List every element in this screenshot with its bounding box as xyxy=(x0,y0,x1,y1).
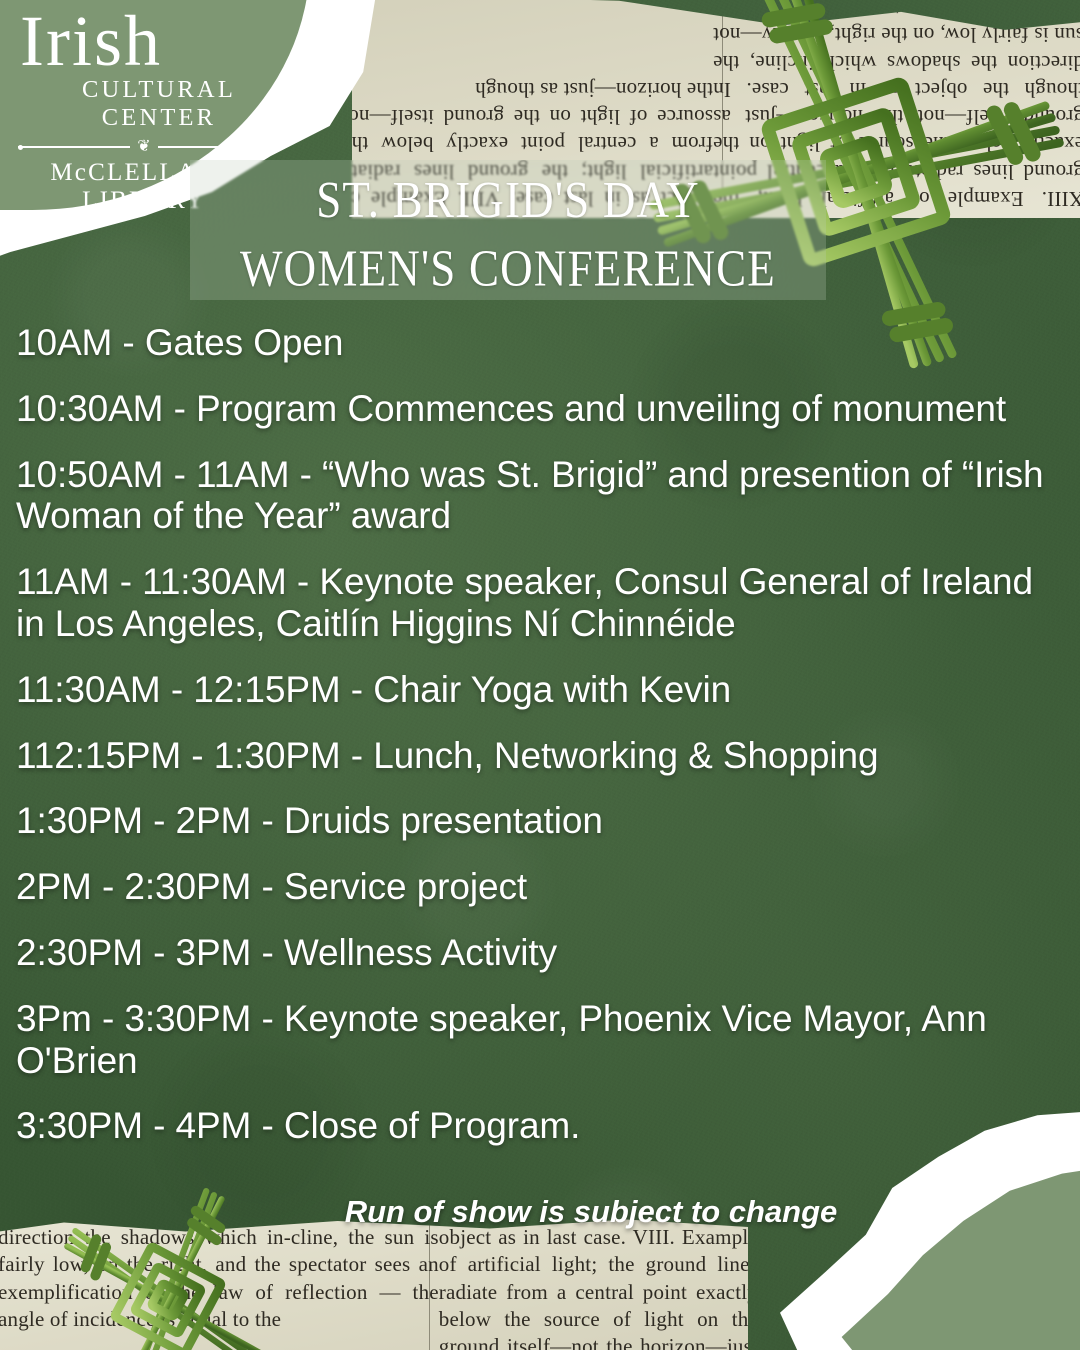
disclaimer-note: Run of show is subject to change xyxy=(16,1194,1016,1230)
book-text-bottom-col1: direction the shadows which in-cline, th… xyxy=(0,1225,439,1331)
divider-line-right xyxy=(158,146,270,148)
schedule-item: 112:15PM - 1:30PM - Lunch, Networking & … xyxy=(16,735,1068,777)
logo-divider: ❦ xyxy=(18,139,270,155)
schedule-list: 10AM - Gates Open 10:30AM - Program Comm… xyxy=(16,322,1068,1171)
celtic-knot-icon: ❦ xyxy=(137,139,150,155)
schedule-item: 10:50AM - 11AM - “Who was St. Brigid” an… xyxy=(16,454,1068,538)
logo-name-main-text: Irish xyxy=(20,1,162,81)
book-page-photo-bottom: direction the shadows which in-cline, th… xyxy=(0,1218,748,1350)
schedule-item: 10AM - Gates Open xyxy=(16,322,1068,364)
title-line-1: St. Brigid's Day xyxy=(316,171,700,229)
schedule-item: 3Pm - 3:30PM - Keynote speaker, Phoenix … xyxy=(16,998,1068,1082)
schedule-item: 2:30PM - 3PM - Wellness Activity xyxy=(16,932,1068,974)
divider-line-left xyxy=(18,146,130,148)
schedule-item: 11AM - 11:30AM - Keynote speaker, Consul… xyxy=(16,561,1068,645)
sage-shape-bottom-right xyxy=(830,1165,1080,1350)
title-line-2: Women's Conference xyxy=(190,234,826,302)
schedule-item: 1:30PM - 2PM - Druids presentation xyxy=(16,800,1068,842)
schedule-item: 11:30AM - 12:15PM - Chair Yoga with Kevi… xyxy=(16,669,1068,711)
book-text-bottom-col2: object as in last case. VIII. Example of… xyxy=(439,1225,748,1350)
page-title: St. Brigid's Day Women's Conference xyxy=(190,166,826,302)
poster-canvas: XIII. Example of artificial light; the g… xyxy=(0,0,1080,1350)
logo-name-main: Irish xyxy=(18,8,270,74)
schedule-item: 2PM - 2:30PM - Service project xyxy=(16,866,1068,908)
logo-name-sub: CULTURAL CENTER xyxy=(18,76,270,132)
schedule-item: 10:30AM - Program Commences and unveilin… xyxy=(16,388,1068,430)
schedule-item: 3:30PM - 4PM - Close of Program. xyxy=(16,1105,1068,1147)
